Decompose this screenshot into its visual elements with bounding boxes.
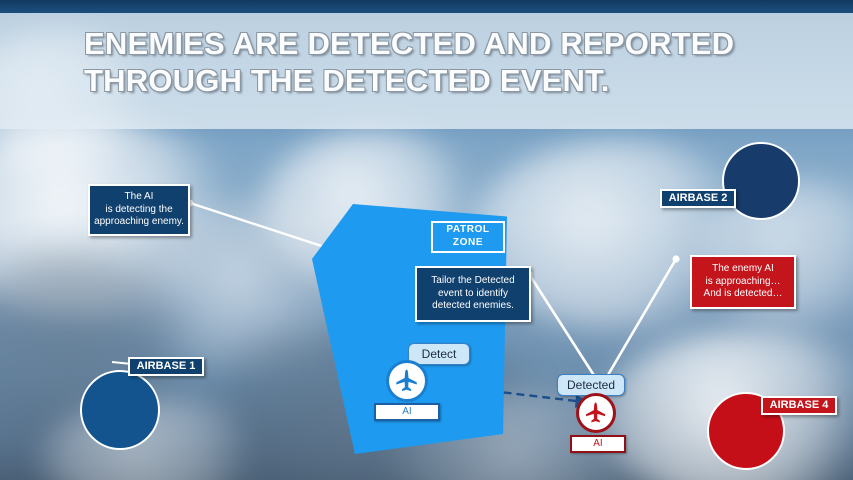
callout-ai-detecting-line-1: The AI (125, 191, 154, 204)
callout-tailor-line-1: Tailor the Detected (431, 275, 514, 288)
callout-ai-detecting[interactable]: The AI is detecting the approaching enem… (88, 184, 190, 236)
enemy-jet-icon[interactable] (576, 393, 616, 433)
patrol-zone-label-line-1: PATROL (446, 224, 489, 237)
enemy-agent-label[interactable]: AI (570, 435, 626, 453)
page-title: ENEMIES ARE DETECTED AND REPORTED THROUG… (84, 26, 844, 99)
airbase-2-label-text: AIRBASE 2 (669, 191, 728, 205)
event-detect-pill[interactable]: Detect (408, 343, 470, 365)
friendly-agent-label-text: AI (402, 406, 411, 419)
callout-ai-detecting-line-3: approaching enemy. (94, 216, 184, 229)
airbase-4-label-text: AIRBASE 4 (770, 398, 829, 412)
enemy-agent-label-text: AI (593, 438, 602, 451)
airbase-4-label[interactable]: AIRBASE 4 (761, 396, 837, 415)
patrol-zone-label[interactable]: PATROL ZONE (431, 221, 505, 253)
airbase-1-label-text: AIRBASE 1 (137, 359, 196, 373)
callout-tailor-line-2: event to identify (438, 288, 508, 301)
airbase-1-circle[interactable] (80, 370, 160, 450)
airbase-2-label[interactable]: AIRBASE 2 (660, 189, 736, 208)
callout-tailor-event[interactable]: Tailor the Detected event to identify de… (415, 266, 531, 322)
callout-enemy-ai-line-1: The enemy AI (712, 263, 774, 276)
callout-enemy-ai[interactable]: The enemy AI is approaching… And is dete… (690, 255, 796, 309)
event-detected-label: Detected (567, 378, 615, 392)
callout-enemy-ai-line-2: is approaching… (705, 276, 780, 289)
title-line-1: ENEMIES ARE DETECTED AND REPORTED (84, 26, 844, 63)
callout-ai-detecting-line-2: is detecting the (105, 204, 172, 217)
event-detect-label: Detect (422, 347, 457, 361)
patrol-zone-label-line-2: ZONE (453, 237, 483, 250)
friendly-agent-label[interactable]: AI (374, 403, 440, 421)
slide-canvas: ENEMIES ARE DETECTED AND REPORTED THROUG… (0, 0, 853, 480)
callout-enemy-ai-line-3: And is detected… (704, 288, 783, 301)
top-accent-bar (0, 0, 853, 13)
airbase-2-circle[interactable] (722, 142, 800, 220)
callout-tailor-line-3: detected enemies. (432, 300, 514, 313)
title-line-2: THROUGH THE DETECTED EVENT. (84, 63, 844, 100)
airbase-1-label[interactable]: AIRBASE 1 (128, 357, 204, 376)
friendly-jet-icon[interactable] (386, 360, 428, 402)
